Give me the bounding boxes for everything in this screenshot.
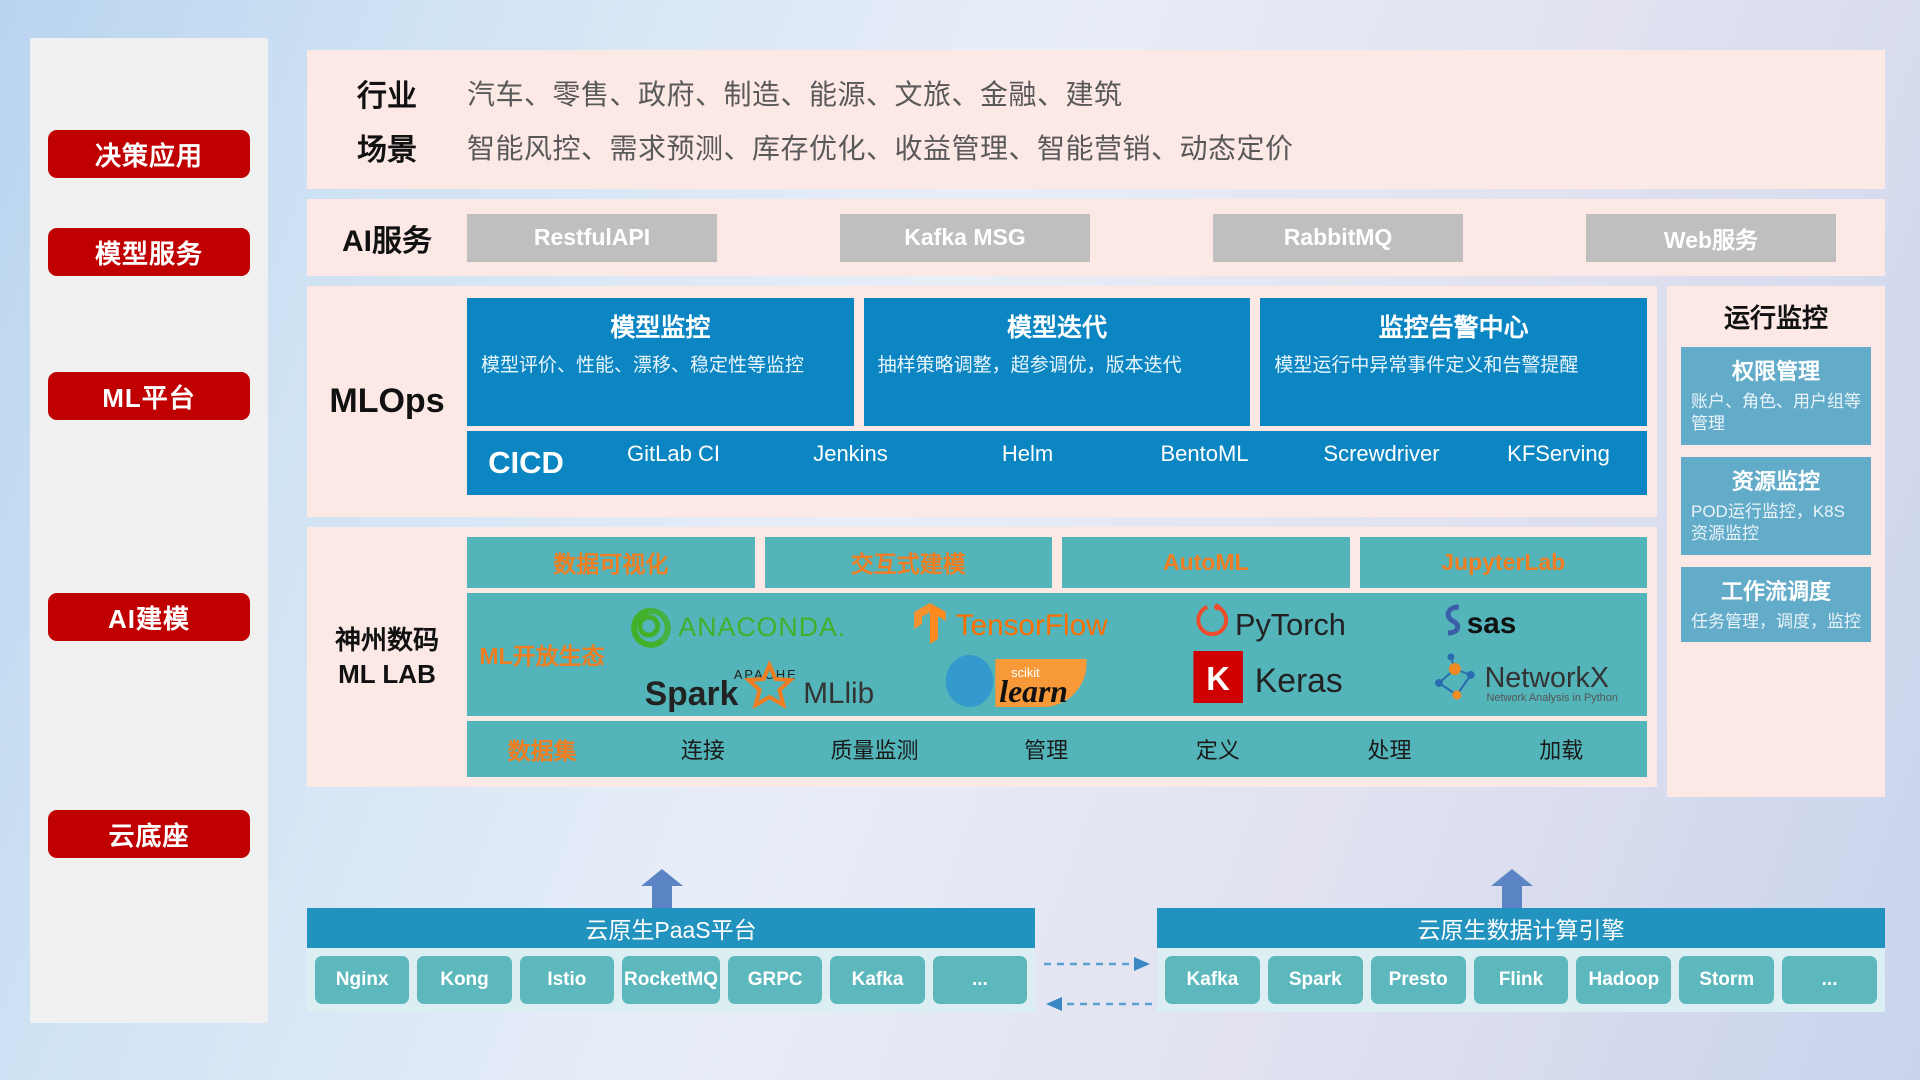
- mlops-content: 模型监控 模型评价、性能、漂移、稳定性等监控 模型迭代 抽样策略调整，超参调优，…: [467, 298, 1647, 505]
- rail-chip-ai-modeling[interactable]: AI建模: [48, 593, 250, 641]
- monitor-card-workflow[interactable]: 工作流调度 任务管理，调度，监控: [1681, 567, 1871, 642]
- cicd-item-gitlab-ci[interactable]: GitLab CI: [585, 441, 762, 485]
- ai-service-chip-rabbitmq[interactable]: RabbitMQ: [1213, 214, 1463, 262]
- ai-service-label: AI服务: [307, 216, 467, 260]
- mllab-label-line1: 神州数码: [335, 624, 439, 657]
- dataset-item-manage[interactable]: 管理: [960, 733, 1132, 765]
- data-chip-hadoop[interactable]: Hadoop: [1576, 956, 1671, 1004]
- dataset-item-process[interactable]: 处理: [1304, 733, 1476, 765]
- svg-text:Keras: Keras: [1255, 661, 1343, 699]
- scikit-learn-logo: scikit learn: [946, 655, 1087, 709]
- cloud-chip-grpc[interactable]: GRPC: [728, 956, 822, 1004]
- logo-strip: ANACONDA. TensorFlow: [617, 593, 1647, 716]
- layer-rail: 决策应用 模型服务 ML平台 AI建模 云底座: [30, 38, 268, 1023]
- svg-text:Network Analysis in Python: Network Analysis in Python: [1487, 692, 1618, 704]
- mllab-label-line2: ML LAB: [338, 658, 436, 691]
- ml-ecosystem-label: ML开放生态: [467, 637, 617, 671]
- svg-text:sas: sas: [1467, 606, 1517, 639]
- mlops-card-desc: 模型运行中异常事件定义和告警提醒: [1274, 353, 1633, 379]
- dataset-item-define[interactable]: 定义: [1132, 733, 1304, 765]
- dataset-item-load[interactable]: 加载: [1475, 733, 1647, 765]
- monitor-card-title: 权限管理: [1691, 354, 1861, 386]
- cicd-item-kfserving[interactable]: KFServing: [1470, 441, 1647, 485]
- svg-text:MLlib: MLlib: [803, 676, 874, 709]
- networkx-logo: NetworkX Network Analysis in Python: [1435, 653, 1618, 704]
- architecture-main: 行业 汽车、零售、政府、制造、能源、文旅、金融、建筑 场景 智能风控、需求预测、…: [307, 50, 1885, 797]
- cicd-item-bentoml[interactable]: BentoML: [1116, 441, 1293, 485]
- dataset-item-connect[interactable]: 连接: [617, 733, 789, 765]
- mlops-card-list: 模型监控 模型评价、性能、漂移、稳定性等监控 模型迭代 抽样策略调整，超参调优，…: [467, 298, 1647, 426]
- ai-service-chip-web[interactable]: Web服务: [1586, 214, 1836, 262]
- mllab-tab-list: 数据可视化 交互式建模 AutoML JupyterLab: [467, 537, 1647, 588]
- rail-chip-label: 模型服务: [95, 234, 203, 271]
- dataset-item-list: 连接 质量监测 管理 定义 处理 加载: [617, 733, 1647, 765]
- mlops-card-model-monitoring[interactable]: 模型监控 模型评价、性能、漂移、稳定性等监控: [467, 298, 854, 426]
- runtime-monitor-title: 运行监控: [1681, 298, 1871, 335]
- cloud-paas-chip-list: Nginx Kong Istio RocketMQ GRPC Kafka ...: [307, 948, 1035, 1012]
- industry-values: 汽车、零售、政府、制造、能源、文旅、金融、建筑: [467, 73, 1123, 113]
- sas-logo: sas: [1448, 606, 1516, 639]
- cicd-item-list: GitLab CI Jenkins Helm BentoML Screwdriv…: [585, 441, 1647, 485]
- rail-chip-label: AI建模: [108, 599, 190, 636]
- rail-chip-ml-platform[interactable]: ML平台: [48, 372, 250, 420]
- cloud-native-data-engine: 云原生数据计算引擎 Kafka Spark Presto Flink Hadoo…: [1157, 908, 1885, 1012]
- mlops-card-title: 模型迭代: [878, 308, 1237, 344]
- tensorflow-logo: TensorFlow: [914, 603, 1108, 644]
- svg-text:learn: learn: [999, 673, 1068, 708]
- scenario-values: 智能风控、需求预测、库存优化、收益管理、智能营销、动态定价: [467, 127, 1294, 167]
- data-chip-spark[interactable]: Spark: [1268, 956, 1363, 1004]
- industry-row: 行业 汽车、零售、政府、制造、能源、文旅、金融、建筑: [307, 66, 1885, 120]
- scenario-row: 场景 智能风控、需求预测、库存优化、收益管理、智能营销、动态定价: [307, 120, 1885, 174]
- dataset-item-quality[interactable]: 质量监测: [789, 733, 961, 765]
- platform-region: MLOps 模型监控 模型评价、性能、漂移、稳定性等监控 模型迭代 抽样策略调整…: [307, 286, 1885, 797]
- tab-interactive-modeling[interactable]: 交互式建模: [765, 537, 1053, 588]
- cloud-chip-kong[interactable]: Kong: [417, 956, 511, 1004]
- tab-jupyterlab[interactable]: JupyterLab: [1360, 537, 1648, 588]
- tab-data-visualization[interactable]: 数据可视化: [467, 537, 755, 588]
- keras-logo: K Keras: [1193, 651, 1342, 703]
- ai-service-list: RestfulAPI Kafka MSG RabbitMQ Web服务: [467, 214, 1885, 262]
- cloud-chip-rocketmq[interactable]: RocketMQ: [622, 956, 720, 1004]
- cloud-base-region: 云原生PaaS平台 Nginx Kong Istio RocketMQ GRPC…: [307, 868, 1885, 1028]
- mllab-band: 神州数码 ML LAB 数据可视化 交互式建模 AutoML JupyterLa…: [307, 527, 1657, 787]
- cicd-bar: CICD GitLab CI Jenkins Helm BentoML Scre…: [467, 431, 1647, 495]
- cloud-chip-nginx[interactable]: Nginx: [315, 956, 409, 1004]
- mllab-content: 数据可视化 交互式建模 AutoML JupyterLab ML开放生态: [467, 537, 1647, 777]
- monitor-card-title: 工作流调度: [1691, 574, 1861, 606]
- ml-ecosystem-logos: ANACONDA. TensorFlow: [617, 593, 1647, 716]
- rail-chip-label: 云底座: [108, 816, 189, 853]
- mlops-card-alert-center[interactable]: 监控告警中心 模型运行中异常事件定义和告警提醒: [1260, 298, 1647, 426]
- up-arrow-data-engine-icon: [1490, 868, 1534, 910]
- cloud-chip-kafka[interactable]: Kafka: [830, 956, 924, 1004]
- pytorch-logo: PyTorch: [1198, 603, 1346, 641]
- up-arrow-paas-icon: [640, 868, 684, 910]
- data-chip-more[interactable]: ...: [1782, 956, 1877, 1004]
- rail-chip-label: ML平台: [102, 378, 196, 415]
- svg-text:TensorFlow: TensorFlow: [956, 608, 1108, 641]
- dataset-title: 数据集: [467, 732, 617, 766]
- dataset-bar: 数据集 连接 质量监测 管理 定义 处理 加载: [467, 721, 1647, 777]
- mlops-card-desc: 模型评价、性能、漂移、稳定性等监控: [481, 353, 840, 379]
- mllab-label: 神州数码 ML LAB: [307, 537, 467, 777]
- ai-service-chip-kafka-msg[interactable]: Kafka MSG: [840, 214, 1090, 262]
- anaconda-logo: ANACONDA.: [634, 610, 846, 644]
- industry-label: 行业: [307, 71, 467, 115]
- data-chip-presto[interactable]: Presto: [1371, 956, 1466, 1004]
- bidirectional-dashed-link-icon: [1042, 954, 1154, 1014]
- monitor-card-resource[interactable]: 资源监控 POD运行监控，K8S资源监控: [1681, 457, 1871, 555]
- svg-text:Spark: Spark: [645, 674, 739, 712]
- data-chip-flink[interactable]: Flink: [1474, 956, 1569, 1004]
- cloud-chip-more[interactable]: ...: [933, 956, 1027, 1004]
- monitor-card-permission[interactable]: 权限管理 账户、角色、用户组等管理: [1681, 347, 1871, 445]
- mlops-card-model-iteration[interactable]: 模型迭代 抽样策略调整，超参调优，版本迭代: [864, 298, 1251, 426]
- monitor-card-desc: 账户、角色、用户组等管理: [1691, 391, 1861, 436]
- ml-ecosystem-row: ML开放生态 ANACONDA.: [467, 593, 1647, 716]
- platform-left: MLOps 模型监控 模型评价、性能、漂移、稳定性等监控 模型迭代 抽样策略调整…: [307, 286, 1657, 797]
- industry-band: 行业 汽车、零售、政府、制造、能源、文旅、金融、建筑 场景 智能风控、需求预测、…: [307, 50, 1885, 189]
- runtime-monitor-panel: 运行监控 权限管理 账户、角色、用户组等管理 资源监控 POD运行监控，K8S资…: [1667, 286, 1885, 797]
- rail-chip-decision[interactable]: 决策应用: [48, 130, 250, 178]
- cicd-title: CICD: [467, 445, 585, 481]
- rail-chip-cloud-base[interactable]: 云底座: [48, 810, 250, 858]
- data-chip-kafka[interactable]: Kafka: [1165, 956, 1260, 1004]
- cicd-item-helm[interactable]: Helm: [939, 441, 1116, 485]
- monitor-card-title: 资源监控: [1691, 464, 1861, 496]
- data-chip-storm[interactable]: Storm: [1679, 956, 1774, 1004]
- rail-chip-model-service[interactable]: 模型服务: [48, 228, 250, 276]
- svg-text:PyTorch: PyTorch: [1235, 606, 1346, 641]
- cicd-item-jenkins[interactable]: Jenkins: [762, 441, 939, 485]
- monitor-card-desc: 任务管理，调度，监控: [1691, 611, 1861, 633]
- cicd-item-screwdriver[interactable]: Screwdriver: [1293, 441, 1470, 485]
- mlops-band: MLOps 模型监控 模型评价、性能、漂移、稳定性等监控 模型迭代 抽样策略调整…: [307, 286, 1657, 517]
- scenario-label: 场景: [307, 125, 467, 169]
- ai-service-chip-restfulapi[interactable]: RestfulAPI: [467, 214, 717, 262]
- svg-text:ANACONDA.: ANACONDA.: [678, 611, 846, 641]
- svg-text:K: K: [1206, 659, 1230, 696]
- cloud-data-chip-list: Kafka Spark Presto Flink Hadoop Storm ..…: [1157, 948, 1885, 1012]
- mlops-card-title: 监控告警中心: [1274, 308, 1633, 344]
- cloud-chip-istio[interactable]: Istio: [520, 956, 614, 1004]
- cloud-paas-title: 云原生PaaS平台: [307, 908, 1035, 948]
- spark-mllib-logo: APACHE Spark MLlib: [645, 665, 874, 713]
- mlops-card-desc: 抽样策略调整，超参调优，版本迭代: [878, 353, 1237, 379]
- ai-service-band: AI服务 RestfulAPI Kafka MSG RabbitMQ Web服务: [307, 199, 1885, 276]
- mlops-label: MLOps: [307, 298, 467, 505]
- cloud-native-paas: 云原生PaaS平台 Nginx Kong Istio RocketMQ GRPC…: [307, 908, 1035, 1012]
- tab-automl[interactable]: AutoML: [1062, 537, 1350, 588]
- cloud-data-title: 云原生数据计算引擎: [1157, 908, 1885, 948]
- monitor-card-desc: POD运行监控，K8S资源监控: [1691, 501, 1861, 546]
- mlops-card-title: 模型监控: [481, 308, 840, 344]
- svg-text:NetworkX: NetworkX: [1485, 661, 1609, 693]
- rail-chip-label: 决策应用: [95, 136, 203, 173]
